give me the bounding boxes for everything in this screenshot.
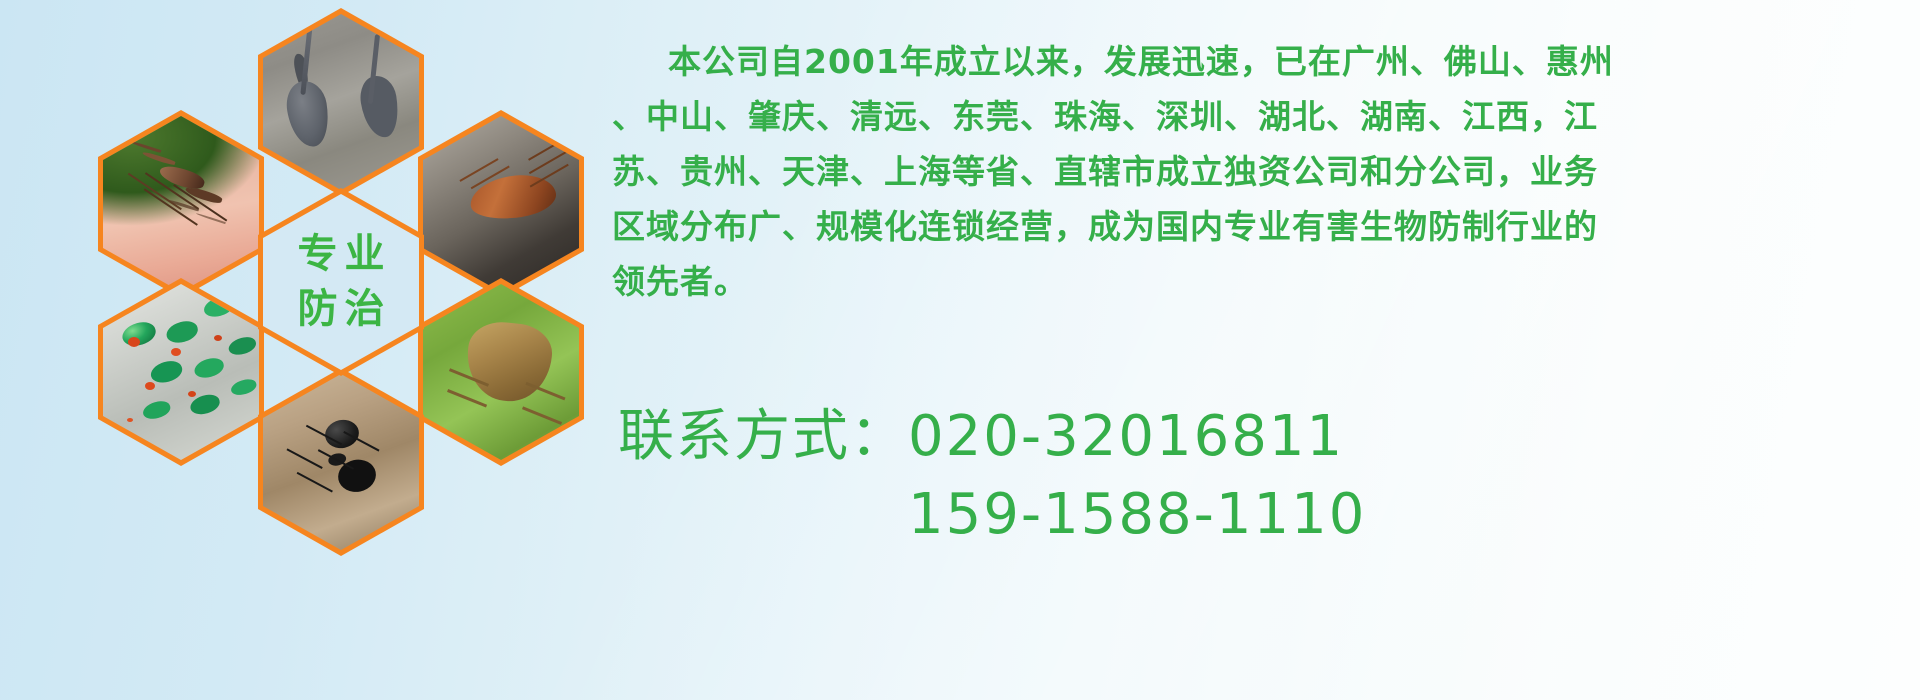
contact-mobile-line[interactable]: 159-1588-1110 (618, 476, 1908, 554)
contact-landline-line[interactable]: 联系方式：020-32016811 (618, 398, 1908, 476)
company-intro-paragraph: 本公司自2001年成立以来，发展迅速，已在广州、佛山、惠州 、中山、肇庆、清远、… (612, 34, 1902, 309)
hex-cell-mosquito-photo[interactable] (98, 110, 264, 298)
intro-line-3: 苏、贵州、天津、上海等省、直辖市成立独资公司和分公司，业务 (612, 144, 1902, 199)
slogan-line-2: 防治 (291, 282, 392, 337)
rats-photo (263, 14, 419, 190)
hex-inner (423, 284, 579, 460)
intro-line-1: 本公司自2001年成立以来，发展迅速，已在广州、佛山、惠州 (612, 34, 1902, 89)
stinkbug-photo (423, 284, 579, 460)
contact-block: 联系方式：020-32016811 159-1588-1110 (618, 398, 1908, 554)
hex-inner (263, 374, 419, 550)
hex-cell-slogan-panel: 专业 防治 (258, 188, 424, 376)
mosquito-photo (103, 116, 259, 292)
ant-photo (263, 374, 419, 550)
honeycomb-gallery: 专业 防治 (90, 0, 610, 560)
hex-cell-cockroach-photo[interactable] (418, 110, 584, 298)
hex-inner (423, 116, 579, 292)
cockroach-photo (423, 116, 579, 292)
slogan-line-1: 专业 (291, 227, 392, 282)
hex-inner (103, 284, 259, 460)
hex-cell-flies-photo[interactable] (98, 278, 264, 466)
hex-cell-stinkbug-photo[interactable] (418, 278, 584, 466)
intro-line-2: 、中山、肇庆、清远、东莞、珠海、深圳、湖北、湖南、江西，江 (612, 89, 1902, 144)
intro-line-4: 区域分布广、规模化连锁经营，成为国内专业有害生物防制行业的 (612, 199, 1902, 254)
hex-inner: 专业 防治 (263, 194, 419, 370)
hex-inner (103, 116, 259, 292)
promo-banner: 专业 防治 本公司自2001年成立以来，发展迅速，已在广州、佛山、惠州 、中山、… (0, 0, 1920, 700)
hex-cell-ant-photo[interactable] (258, 368, 424, 556)
intro-line-5: 领先者。 (612, 254, 1902, 309)
flies-photo (103, 284, 259, 460)
hex-cell-rats-photo[interactable] (258, 8, 424, 196)
hex-inner (263, 14, 419, 190)
